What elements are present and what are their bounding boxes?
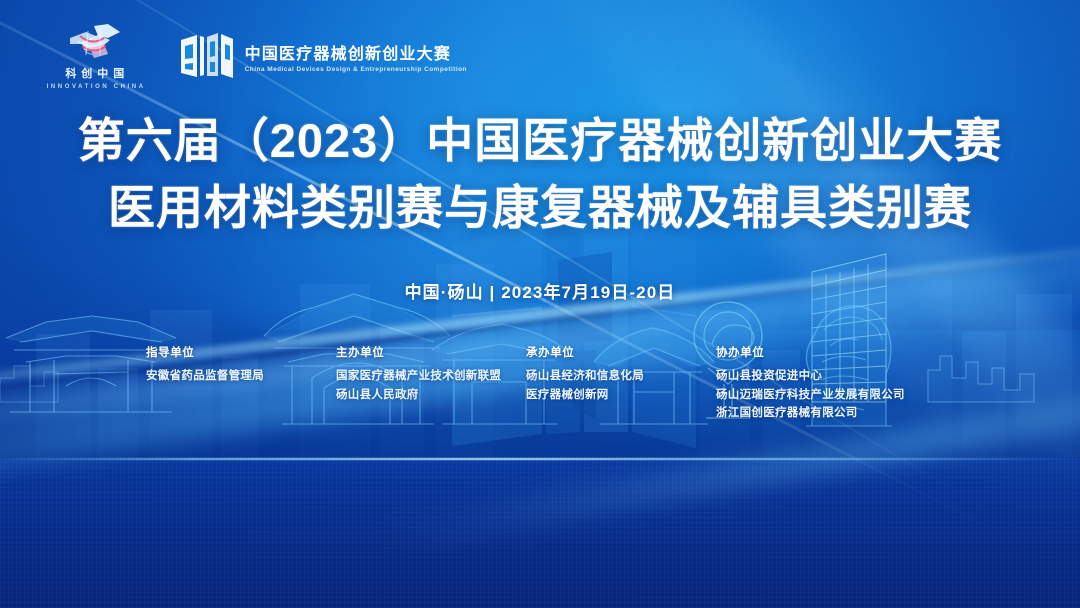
sponsor-column-coorganizer: 协办单位 砀山县投资促进中心 砀山迈瑞医疗科技产业发展有限公司 浙江国创医疗器械… (716, 344, 934, 423)
competition-logo-cn: 中国医疗器械创新创业大赛 (245, 40, 467, 64)
innovation-china-logo-cn: 科创中国 (60, 65, 129, 81)
title-line-1: 第六届（2023）中国医疗器械创新创业大赛 (0, 108, 1080, 175)
sponsor-item: 砀山县经济和信息化局 (526, 367, 716, 386)
sponsor-heading: 承办单位 (526, 344, 716, 360)
sponsor-column-guidance: 指导单位 安徽省药品监督管理局 (146, 344, 336, 423)
reflective-floor (0, 458, 1080, 608)
sponsor-item: 国家医疗器械产业技术创新联盟 (336, 367, 526, 386)
header-logos: 科创中国 INNOVATION CHINA (44, 22, 467, 90)
sponsor-item: 砀山县人民政府 (336, 386, 526, 405)
sponsor-heading: 指导单位 (146, 344, 336, 360)
innovation-china-bird-dna-icon (64, 22, 126, 62)
sponsor-column-host: 主办单位 国家医疗器械产业技术创新联盟 砀山县人民政府 (336, 344, 526, 423)
competition-logo: 中国医疗器械创新创业大赛 China Medical Devices Desig… (180, 32, 467, 80)
city-skyline-silhouette (0, 220, 1080, 460)
innovation-china-logo-en: INNOVATION CHINA (44, 84, 146, 90)
sponsor-heading: 协办单位 (716, 344, 934, 360)
horizon-glow-line (0, 458, 1080, 460)
far-skyline-left (0, 366, 58, 402)
conference-banner: 科创中国 INNOVATION CHINA (0, 0, 1080, 608)
innovation-china-logo: 科创中国 INNOVATION CHINA (44, 22, 146, 90)
sponsor-columns: 指导单位 安徽省药品监督管理局 主办单位 国家医疗器械产业技术创新联盟 砀山县人… (146, 344, 934, 423)
far-skyline-right (928, 356, 1034, 402)
event-location-date: 中国·砀山 | 2023年7月19日-20日 (0, 278, 1080, 303)
sponsor-heading: 主办单位 (336, 344, 526, 360)
competition-logo-en: China Medical Devices Design & Entrepren… (245, 66, 467, 73)
sponsor-item: 医疗器械创新网 (526, 386, 716, 405)
open-door-icon (180, 32, 234, 80)
sponsor-column-organizer: 承办单位 砀山县经济和信息化局 医疗器械创新网 (526, 344, 716, 423)
sponsor-item: 浙江国创医疗器械有限公司 (716, 404, 934, 423)
sponsor-item: 安徽省药品监督管理局 (146, 367, 336, 386)
sponsor-item: 砀山迈瑞医疗科技产业发展有限公司 (716, 386, 934, 405)
main-title: 第六届（2023）中国医疗器械创新创业大赛 医用材料类别赛与康复器械及辅具类别赛 (0, 108, 1080, 241)
sponsor-item: 砀山县投资促进中心 (716, 367, 934, 386)
title-line-2: 医用材料类别赛与康复器械及辅具类别赛 (0, 175, 1080, 242)
